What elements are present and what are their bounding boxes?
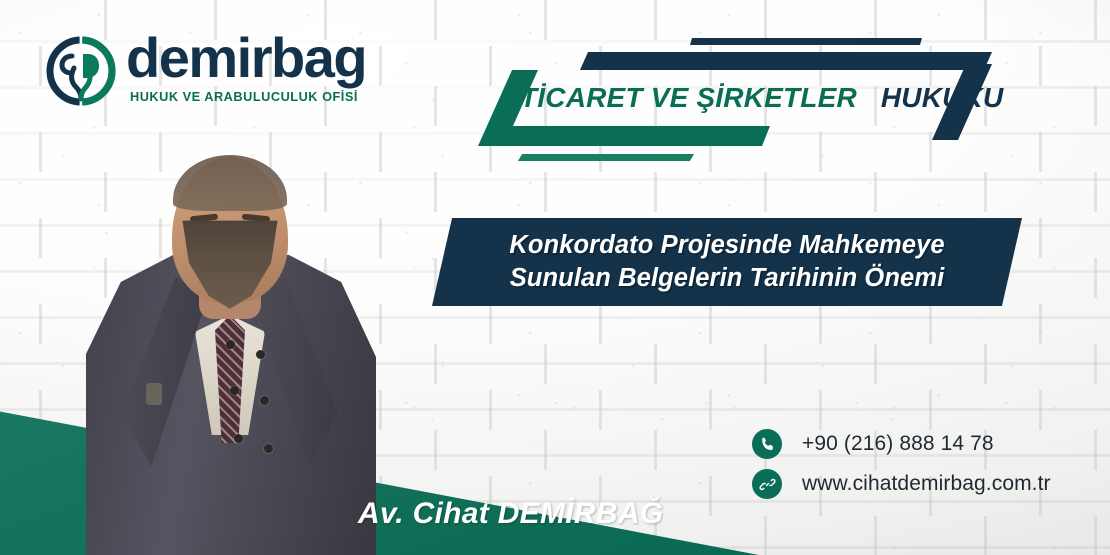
green-bracket-horizontal [492, 126, 770, 146]
lawyer-portrait [80, 135, 380, 555]
contact-row-website[interactable]: www.cihatdemirbag.com.tr [752, 464, 1051, 504]
green-thin-rule [518, 154, 694, 161]
logo-tagline: HUKUK VE ARABULUCULUK OFİSİ [130, 90, 358, 104]
portrait-button [256, 350, 265, 359]
portrait-button [260, 396, 269, 405]
contact-website-value: www.cihatdemirbag.com.tr [802, 472, 1051, 496]
link-icon [752, 469, 782, 499]
person-name: Av. Cihat DEMİRBAĞ [358, 497, 663, 531]
kicker-decoration-group: TİCARET VE ŞİRKETLER HUKUKU [470, 30, 1000, 180]
contact-list: +90 (216) 888 14 78 www.cihatdemirbag.co… [752, 424, 1051, 504]
headline-text: Konkordato Projesinde Mahkemeye Sunulan … [491, 229, 962, 295]
portrait-button [230, 386, 239, 395]
contact-phone-value: +90 (216) 888 14 78 [802, 432, 994, 456]
promo-banner: TİCARET VE ŞİRKETLER HUKUKU [0, 0, 1110, 555]
headline-line-2: Sunulan Belgelerin Tarihinin Önemi [509, 262, 944, 295]
headline-plate: Konkordato Projesinde Mahkemeye Sunulan … [432, 218, 1022, 306]
portrait-button [234, 434, 243, 443]
brand-logo[interactable]: demirbag HUKUK VE ARABULUCULUK OFİSİ [44, 32, 364, 114]
portrait-button [226, 340, 235, 349]
navy-bracket-horizontal [580, 52, 992, 70]
portrait-hair [173, 155, 287, 211]
cd-monogram-icon [44, 34, 118, 108]
kicker-text: TİCARET VE ŞİRKETLER HUKUKU [520, 82, 1003, 114]
headline-line-1: Konkordato Projesinde Mahkemeye [509, 229, 944, 262]
portrait-button [264, 444, 273, 453]
contact-row-phone[interactable]: +90 (216) 888 14 78 [752, 424, 1051, 464]
navy-thin-rule [690, 38, 922, 45]
kicker-navy-text: HUKUKU [881, 82, 1004, 113]
portrait-lapel-pin-icon [146, 383, 162, 405]
phone-icon [752, 429, 782, 459]
portrait-head [172, 157, 288, 303]
logo-wordmark: demirbag [126, 30, 366, 86]
kicker-green-text: TİCARET VE ŞİRKETLER [520, 82, 857, 113]
